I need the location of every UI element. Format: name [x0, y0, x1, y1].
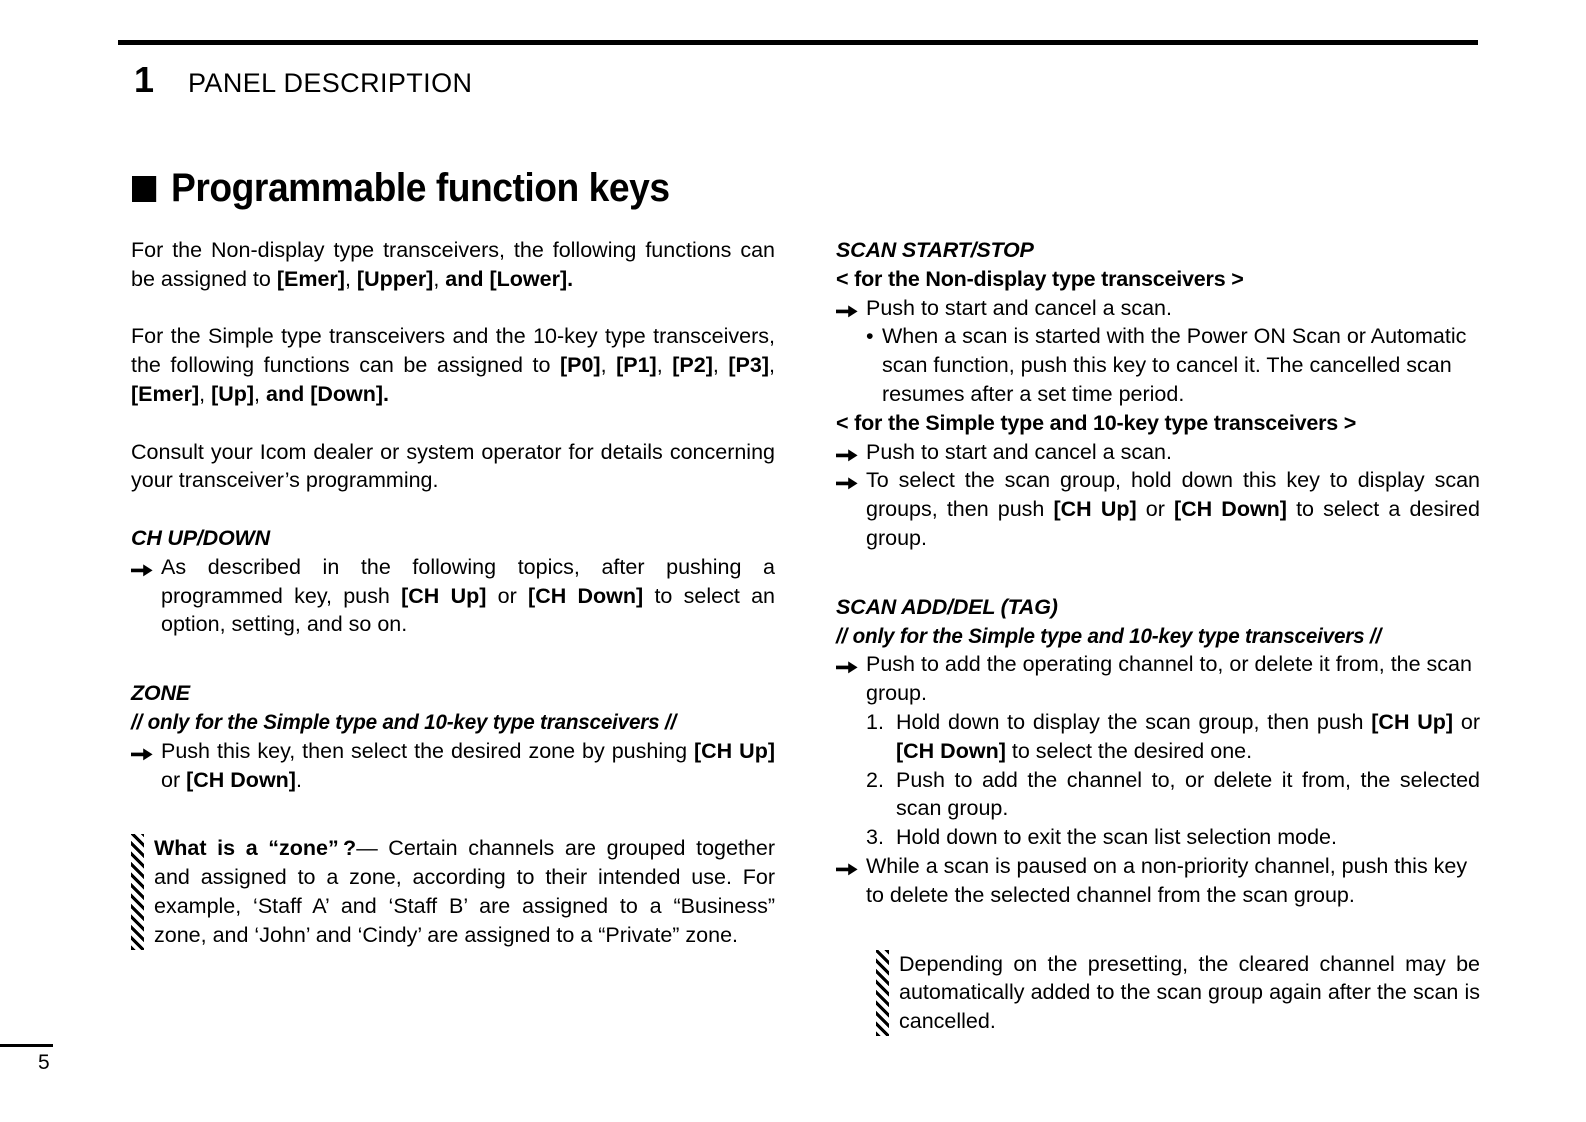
scan-scope-simple: < for the Simple type and 10-key type tr…	[836, 409, 1480, 438]
scan-simple-arrow-item-1: Push to start and cancel a scan.	[836, 438, 1480, 467]
right-arrow-icon	[836, 466, 866, 552]
chapter-title: PANEL DESCRIPTION	[188, 70, 472, 97]
hatched-bar-icon	[131, 834, 144, 949]
subsection-heading-zone: ZONE	[131, 679, 775, 708]
scan-simple-text-2: To select the scan group, hold down this…	[866, 466, 1480, 552]
scan-add-del-scope-note: // only for the Simple type and 10-key t…	[836, 622, 1454, 651]
scan-simple-text-1: Push to start and cancel a scan.	[866, 438, 1480, 467]
zone-note-box: What is a “zone” ?— Certain channels are…	[131, 834, 775, 949]
scan-scope-nondisplay: < for the Non-display type transceivers …	[836, 265, 1480, 294]
step-number: 3.	[866, 823, 896, 852]
intro-paragraph-2: For the Simple type transceivers and the…	[131, 322, 775, 408]
right-arrow-icon	[836, 294, 866, 323]
scan-add-del-step-2: 2. Push to add the channel to, or delete…	[866, 766, 1480, 824]
section-title-text: Programmable function keys	[171, 166, 670, 211]
scan-nondisplay-subnote-text: When a scan is started with the Power ON…	[882, 322, 1480, 408]
right-arrow-icon	[131, 737, 161, 795]
scan-add-del-arrow-item-2: While a scan is paused on a non-priority…	[836, 852, 1480, 910]
step-number: 2.	[866, 766, 896, 824]
ch-updown-text: As described in the following topics, af…	[161, 553, 775, 639]
page-title: Programmable function keys	[132, 166, 670, 211]
right-arrow-icon	[836, 650, 866, 708]
zone-arrow-item: Push this key, then select the desired z…	[131, 737, 775, 795]
subsection-heading-scan-add-del: SCAN ADD/DEL (TAG)	[836, 593, 1480, 622]
scan-simple-arrow-item-2: To select the scan group, hold down this…	[836, 466, 1480, 552]
intro-paragraph-1: For the Non-display type transceivers, t…	[131, 236, 775, 294]
spacer	[836, 910, 1480, 950]
scan-note-box: Depending on the presetting, the cleared…	[876, 950, 1480, 1036]
scan-add-del-step-1: 1. Hold down to display the scan group, …	[866, 708, 1480, 766]
intro-paragraph-3: Consult your Icom dealer or system opera…	[131, 438, 775, 496]
page-number: 5	[38, 1050, 50, 1076]
zone-text: Push this key, then select the desired z…	[161, 737, 775, 795]
chapter-number: 1	[134, 62, 154, 98]
scan-add-del-text-1: Push to add the operating channel to, or…	[866, 650, 1480, 708]
step-text: Hold down to display the scan group, the…	[896, 708, 1480, 766]
scan-add-del-text-2: While a scan is paused on a non-priority…	[866, 852, 1480, 910]
subsection-heading-ch-updown: CH UP/DOWN	[131, 524, 775, 553]
hatched-bar-icon	[876, 950, 889, 1036]
right-arrow-icon	[836, 438, 866, 467]
right-arrow-icon	[131, 553, 161, 639]
step-text: Hold down to exit the scan list selectio…	[896, 823, 1480, 852]
right-arrow-icon	[836, 852, 866, 910]
spacer	[131, 794, 775, 834]
step-number: 1.	[866, 708, 896, 766]
left-column: For the Non-display type transceivers, t…	[131, 236, 775, 950]
step-text: Push to add the channel to, or delete it…	[896, 766, 1480, 824]
scan-add-del-step-3: 3. Hold down to exit the scan list selec…	[866, 823, 1480, 852]
ch-updown-arrow-item: As described in the following topics, af…	[131, 553, 775, 639]
filled-square-icon	[132, 176, 156, 202]
scan-nondisplay-arrow-item: Push to start and cancel a scan.	[836, 294, 1480, 323]
spacer	[836, 553, 1480, 593]
zone-note-text: What is a “zone” ?— Certain channels are…	[154, 834, 775, 949]
scan-nondisplay-subnote-item: • When a scan is started with the Power …	[866, 322, 1480, 408]
scan-nondisplay-text: Push to start and cancel a scan.	[866, 294, 1480, 323]
spacer	[131, 639, 775, 679]
zone-scope-note: // only for the Simple type and 10-key t…	[131, 708, 749, 737]
header-rule	[118, 40, 1478, 45]
scan-note-text: Depending on the presetting, the cleared…	[899, 950, 1480, 1036]
footer-rule	[0, 1044, 53, 1047]
subsection-heading-scan-start-stop: SCAN START/STOP	[836, 236, 1480, 265]
running-head: 1 PANEL DESCRIPTION	[134, 62, 472, 98]
scan-add-del-arrow-item-1: Push to add the operating channel to, or…	[836, 650, 1480, 708]
right-column: SCAN START/STOP < for the Non-display ty…	[836, 236, 1480, 1036]
bullet-dot-icon: •	[866, 322, 882, 408]
